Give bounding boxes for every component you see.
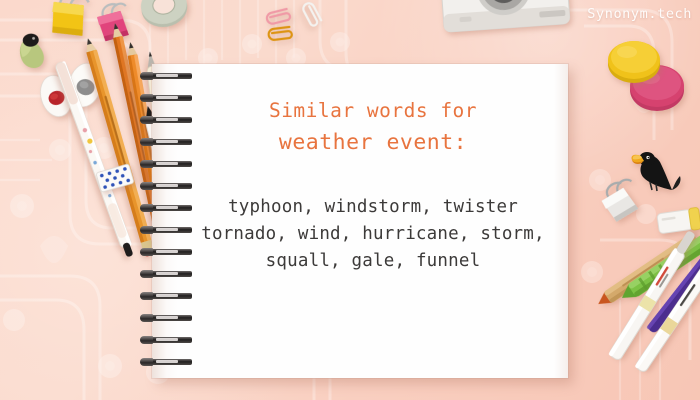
site-watermark: Synonym.tech [587,6,692,22]
toucan-figurine [630,148,688,192]
screenshot-canvas: Similar words for weather event: typhoon… [0,0,700,400]
page-content: Similar words for weather event: typhoon… [178,64,568,276]
bird-figurine [16,32,50,73]
synonym-line: typhoon, windstorm, twister [178,194,568,221]
synonym-line: squall, gale, funnel [178,248,568,275]
synonym-list: typhoon, windstorm, twister tornado, win… [178,194,568,275]
heading-line-2: weather event: [178,131,568,156]
macaron-yellow [606,38,662,84]
heading-line-1: Similar words for [178,100,568,122]
paperclip-orange [265,24,296,41]
synonym-line: tornado, wind, hurricane, storm, [178,221,568,248]
